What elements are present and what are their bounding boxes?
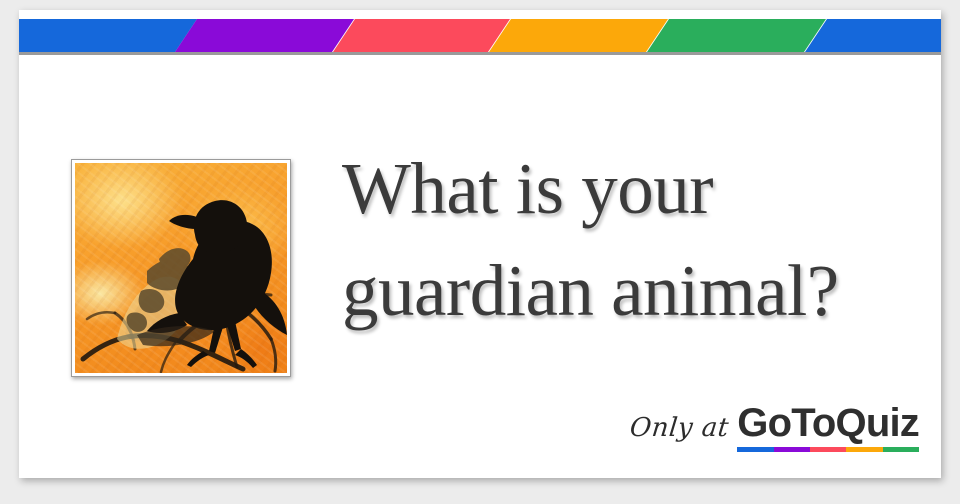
ribbon-segment-blue-left	[19, 19, 197, 52]
ribbon-underline	[19, 52, 941, 55]
quiz-thumbnail-frame[interactable]	[71, 159, 291, 377]
brand-bar-segment-blue	[737, 447, 773, 452]
brand-name[interactable]: GoToQuiz	[737, 402, 919, 444]
brand-tagline: Only at	[628, 413, 730, 443]
brand-bar-segment-red	[810, 447, 846, 452]
raven-illustration	[75, 163, 287, 373]
ribbon-segment-orange	[489, 19, 668, 52]
page-title: What is your guardian animal?	[342, 138, 942, 342]
ribbon-segment-green	[647, 19, 826, 52]
top-color-ribbon	[19, 19, 941, 52]
brand-bar-segment-green	[883, 447, 919, 452]
brand-bar-segment-orange	[846, 447, 882, 452]
ribbon-segment-purple	[175, 19, 354, 52]
brand-lockup[interactable]: Only at GoToQuiz	[630, 402, 920, 452]
brand-logo[interactable]: GoToQuiz	[737, 402, 919, 452]
ribbon-segment-blue-right	[805, 19, 941, 52]
brand-color-bar	[737, 447, 919, 452]
ribbon-segment-red	[333, 19, 510, 52]
page-title-line-2: guardian animal?	[342, 240, 942, 342]
quiz-card: What is your guardian animal? Only at Go…	[19, 10, 941, 478]
quiz-thumbnail[interactable]	[75, 163, 287, 373]
page-title-line-1: What is your	[342, 138, 942, 240]
brand-bar-segment-purple	[774, 447, 810, 452]
